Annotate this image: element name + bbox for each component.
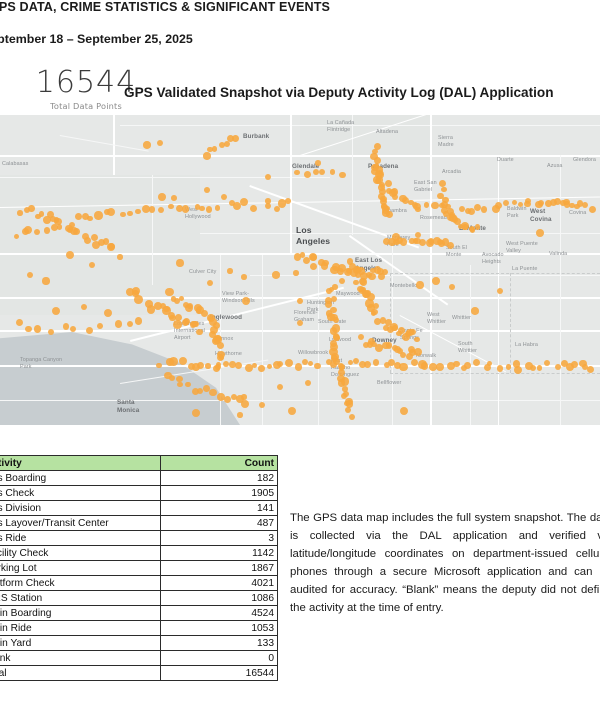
map-label: Glendora	[573, 157, 596, 164]
gps-point	[400, 238, 407, 245]
table-body: Bus Boarding182Bus Check1905Bus Division…	[0, 471, 278, 681]
table-row: Train Ride1053	[0, 621, 278, 636]
gps-point	[204, 187, 210, 193]
gps-point	[285, 198, 291, 204]
map-label: West Whittier	[427, 312, 446, 326]
gps-point	[232, 135, 239, 142]
gps-point	[89, 262, 95, 268]
gps-point	[54, 217, 59, 222]
gps-point	[127, 211, 133, 217]
map-label: West Covina	[530, 208, 552, 224]
gps-point	[241, 274, 247, 280]
cell-count: 141	[161, 501, 278, 516]
gps-point	[158, 193, 166, 201]
gps-point	[432, 277, 440, 285]
map-label: Baldwin Park	[507, 206, 527, 220]
gps-point	[75, 213, 82, 220]
gps-point	[156, 363, 161, 368]
map-label: La Puente	[512, 266, 537, 273]
gps-point	[52, 307, 60, 315]
map-label: Topanga Canyon Park	[20, 357, 62, 371]
cell-count: 4524	[161, 606, 278, 621]
map-road	[262, 255, 263, 425]
table-row: Blank0	[0, 651, 278, 666]
gps-point	[445, 204, 450, 209]
table-header-row: Activity Count	[0, 456, 278, 471]
activity-count-table: Activity Count Bus Boarding182Bus Check1…	[0, 455, 278, 681]
map-label: Valinda	[549, 251, 567, 258]
gps-point	[464, 362, 471, 369]
map-label: Whittier	[452, 315, 471, 322]
gps-point	[241, 400, 249, 408]
gps-point	[227, 268, 232, 273]
gps-point	[241, 394, 246, 399]
gps-point	[97, 323, 103, 329]
gps-point	[376, 176, 383, 183]
gps-point	[481, 206, 488, 213]
gps-point	[447, 242, 454, 249]
gps-point	[453, 361, 459, 367]
map-road	[318, 265, 319, 425]
map-label: Azusa	[547, 163, 562, 170]
gps-point	[192, 321, 198, 327]
gps-point	[495, 202, 502, 209]
cell-activity: Bus Check	[0, 486, 161, 501]
gps-point	[25, 326, 31, 332]
gps-point	[304, 171, 311, 178]
gps-point	[169, 357, 178, 366]
gps-point	[449, 284, 455, 290]
gps-point	[473, 359, 480, 366]
map-road	[250, 275, 600, 276]
gps-point	[339, 172, 345, 178]
gps-point	[331, 296, 337, 302]
map-road	[560, 155, 561, 425]
map-label: Culver City	[189, 269, 216, 276]
gps-point	[265, 198, 271, 204]
total-data-points-label: Total Data Points	[26, 101, 146, 111]
gps-point	[315, 160, 320, 165]
cell-count: 1867	[161, 561, 278, 576]
cell-count: 16544	[161, 666, 278, 681]
map-boundary	[390, 273, 600, 274]
gps-point	[135, 209, 141, 215]
cell-activity: Train Yard	[0, 636, 161, 651]
gps-point	[176, 259, 183, 266]
map-label: La Habra	[515, 342, 538, 349]
table-row: Bus Boarding182	[0, 471, 278, 486]
gps-point	[382, 269, 388, 275]
table-row: Bus Check1905	[0, 486, 278, 501]
gps-point	[70, 326, 76, 332]
cell-activity: Train Boarding	[0, 606, 161, 621]
cell-activity: Parking Lot	[0, 561, 161, 576]
gps-point	[474, 204, 481, 211]
gps-point	[258, 365, 265, 372]
gps-point	[297, 298, 303, 304]
map-road	[0, 400, 600, 401]
table-row: Total16544	[0, 666, 278, 681]
map-label: Calabasas	[2, 161, 28, 168]
gps-point	[326, 288, 332, 294]
gps-point	[171, 195, 177, 201]
gps-point	[185, 382, 190, 387]
map-label: Altadena	[376, 129, 398, 136]
map-label: West Puente Valley	[506, 241, 538, 255]
map-foothills	[300, 115, 430, 160]
cell-activity: Blank	[0, 651, 161, 666]
gps-point	[168, 204, 173, 209]
map-road	[392, 245, 393, 425]
gps-point	[293, 270, 298, 275]
gps-point	[373, 359, 380, 366]
map-boundary	[390, 373, 600, 374]
gps-point	[288, 407, 296, 415]
gps-point	[107, 243, 114, 250]
gps-point	[503, 200, 509, 206]
report-date-range: September 18 – September 25, 2025	[0, 32, 600, 46]
gps-point	[431, 202, 438, 209]
gps-point	[127, 321, 133, 327]
gps-point	[536, 229, 544, 237]
cell-count: 1142	[161, 546, 278, 561]
cell-activity: Bus Layover/Transit Center	[0, 516, 161, 531]
gps-point	[117, 254, 122, 259]
gps-point	[73, 228, 80, 235]
table-row: Train Boarding4524	[0, 606, 278, 621]
gps-point	[237, 412, 242, 417]
report-page: GPS DATA, CRIME STATISTICS & SIGNIFICANT…	[0, 0, 600, 719]
map-label: Duarte	[497, 157, 514, 164]
gps-point	[212, 146, 217, 151]
gps-point	[295, 363, 303, 371]
gps-point	[28, 205, 35, 212]
cell-count: 133	[161, 636, 278, 651]
map-road	[290, 115, 292, 255]
map-label: Sierra Madre	[438, 135, 454, 149]
cell-count: 0	[161, 651, 278, 666]
gps-point	[182, 205, 189, 212]
gps-point	[203, 152, 210, 159]
cell-activity: Bus Division	[0, 501, 161, 516]
gps-point	[217, 342, 224, 349]
gps-point	[94, 211, 102, 219]
column-header-count: Count	[161, 456, 278, 471]
map-label: View Park- Windsor Hills	[222, 291, 255, 305]
map-road	[430, 115, 432, 425]
gps-point	[360, 278, 367, 285]
gps-point	[34, 325, 42, 333]
gps-point	[182, 319, 189, 326]
cell-activity: Bus Boarding	[0, 471, 161, 486]
gps-point	[158, 207, 164, 213]
cell-activity: Facility Check	[0, 546, 161, 561]
gps-map[interactable]: CalabasasTopanga Canyon ParkSanta Monica…	[0, 115, 600, 425]
gps-point	[197, 362, 204, 369]
map-road	[152, 175, 153, 285]
table-head: Activity Count	[0, 456, 278, 471]
map-label: Los Angeles	[296, 225, 330, 246]
gps-point	[392, 194, 398, 200]
map-boundary	[510, 273, 511, 373]
cell-count: 487	[161, 516, 278, 531]
map-label: La Cañada Flintridge	[327, 120, 354, 134]
gps-point	[209, 389, 216, 396]
gps-point	[135, 317, 142, 324]
gps-point	[469, 226, 475, 232]
cell-count: 4021	[161, 576, 278, 591]
map-label: Burbank	[243, 133, 269, 141]
map-description-paragraph: The GPS data map includes the full syste…	[290, 510, 600, 617]
column-header-activity: Activity	[0, 456, 161, 471]
gps-point	[63, 323, 69, 329]
gps-point	[242, 297, 250, 305]
gps-point	[414, 348, 422, 356]
page-title: GPS DATA, CRIME STATISTICS & SIGNIFICANT…	[0, 0, 600, 14]
table-row: MRS Station1086	[0, 591, 278, 606]
cell-activity: Bus Ride	[0, 531, 161, 546]
cell-activity: MRS Station	[0, 591, 161, 606]
gps-point	[332, 284, 338, 290]
cell-activity: Platform Check	[0, 576, 161, 591]
gps-point	[497, 365, 503, 371]
cell-activity: Train Ride	[0, 621, 161, 636]
cell-count: 1053	[161, 621, 278, 636]
gps-point	[355, 272, 361, 278]
cell-count: 1905	[161, 486, 278, 501]
gps-point	[87, 216, 92, 221]
gps-point	[285, 359, 293, 367]
cell-count: 182	[161, 471, 278, 486]
gps-point	[240, 198, 248, 206]
map-label: Montebello	[390, 283, 417, 290]
gps-point	[506, 364, 511, 369]
table-row: Platform Check4021	[0, 576, 278, 591]
map-label: Santa Monica	[117, 399, 139, 415]
map-label: Arcadia	[442, 169, 461, 176]
table-row: Facility Check1142	[0, 546, 278, 561]
gps-point	[462, 224, 467, 229]
gps-point	[134, 295, 143, 304]
gps-point	[330, 169, 335, 174]
map-label: Willowbrook	[298, 350, 328, 357]
gps-point	[385, 180, 392, 187]
gps-point	[370, 268, 376, 274]
table-row: Bus Ride3	[0, 531, 278, 546]
cell-count: 3	[161, 531, 278, 546]
gps-point	[205, 363, 210, 368]
map-label: Avocado Heights	[482, 252, 504, 266]
gps-point	[143, 141, 150, 148]
gps-point	[44, 227, 50, 233]
gps-point	[42, 277, 49, 284]
gps-map-card: 16544 Total Data Points GPS Validated Sn…	[0, 62, 600, 425]
gps-point	[192, 409, 200, 417]
gps-point	[415, 207, 421, 213]
table-row: Parking Lot1867	[0, 561, 278, 576]
gps-point	[57, 224, 62, 229]
gps-point	[115, 320, 122, 327]
gps-point	[104, 309, 112, 317]
gps-point	[14, 234, 19, 239]
gps-point	[17, 210, 22, 215]
map-heading: GPS Validated Snapshot via Deputy Activi…	[124, 85, 554, 100]
map-label: South Whittier	[458, 341, 477, 355]
table-row: Bus Layover/Transit Center487	[0, 516, 278, 531]
gps-point	[294, 170, 300, 176]
gps-point	[353, 280, 359, 286]
gps-point	[399, 363, 407, 371]
gps-point	[66, 251, 74, 259]
map-label: East San Gabriel	[414, 180, 437, 194]
map-label: Covina	[569, 210, 586, 217]
gps-point	[436, 363, 444, 371]
map-road	[0, 177, 330, 178]
gps-point	[224, 396, 231, 403]
gps-point	[206, 206, 212, 212]
gps-point	[471, 307, 478, 314]
gps-point	[416, 281, 423, 288]
cell-count: 1086	[161, 591, 278, 606]
map-road	[120, 125, 600, 126]
table-row: Bus Division141	[0, 501, 278, 516]
gps-point	[537, 365, 542, 370]
gps-point	[149, 206, 156, 213]
map-label: Bellflower	[377, 380, 401, 387]
gps-point	[272, 271, 279, 278]
table-row: Train Yard133	[0, 636, 278, 651]
gps-point	[571, 361, 578, 368]
map-label: Maywood	[336, 291, 360, 298]
cell-activity: Total	[0, 666, 161, 681]
gps-point	[39, 211, 44, 216]
